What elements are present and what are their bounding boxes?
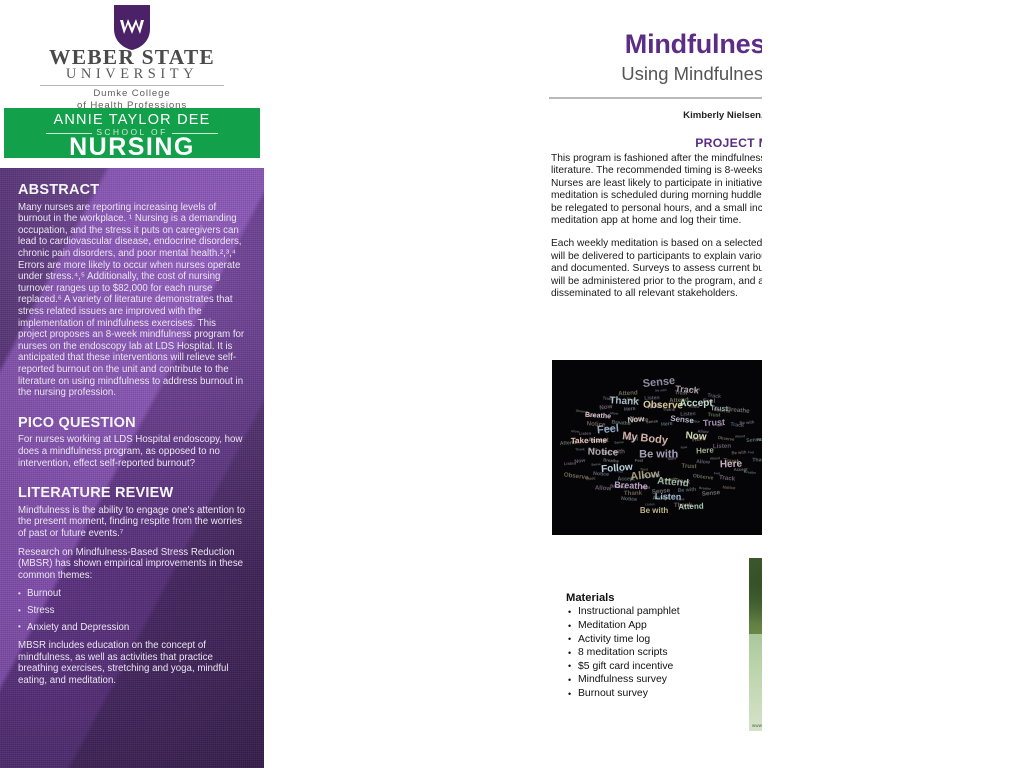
brain-word-speck: Sense bbox=[614, 441, 624, 445]
brain-word-speck: Attend bbox=[710, 457, 720, 461]
brain-word-speck: Be with bbox=[678, 488, 697, 494]
list-item: Activity time log bbox=[566, 634, 756, 646]
brain-word-speck: Sense bbox=[701, 490, 720, 498]
list-item: $5 gift card incentive bbox=[566, 661, 756, 673]
brain-word-speck: Notice bbox=[723, 486, 736, 491]
pico-body: For nurses working at LDS Hospital endos… bbox=[18, 434, 246, 469]
weber-state-shield-icon bbox=[112, 4, 152, 51]
list-item: Meditation App bbox=[566, 620, 756, 632]
list-item: Anxiety and Depression bbox=[18, 622, 246, 634]
brain-word-speck: Feel bbox=[703, 399, 715, 405]
left-column: WEBER STATE UNIVERSITY Dumke College of … bbox=[0, 0, 264, 768]
brain-word-speck: Accept bbox=[652, 496, 669, 501]
brain-word-speck: Thank bbox=[662, 408, 674, 412]
brain-word-speck: Accept bbox=[588, 438, 609, 444]
brain-word-speck: Feel bbox=[628, 437, 638, 442]
school-annie-taylor-dee: ANNIE TAYLOR DEE bbox=[4, 112, 260, 128]
poster-root: WEBER STATE UNIVERSITY Dumke College of … bbox=[0, 0, 1024, 768]
left-content-panel: ABSTRACT Many nurses are reporting incre… bbox=[0, 168, 264, 768]
school-nursing-word: NURSING bbox=[4, 133, 260, 162]
brain-word-speck: Feel bbox=[642, 485, 650, 489]
list-item: Mindfulness survey bbox=[566, 674, 756, 686]
brain-word-speck: Observe bbox=[692, 474, 713, 482]
brain-word-speck: Attend bbox=[669, 398, 689, 405]
university-word: UNIVERSITY bbox=[0, 67, 264, 81]
list-item: Stress bbox=[18, 605, 246, 617]
brain-word-speck: Listen bbox=[680, 412, 695, 418]
brain-word-cloud-words: SenseTrackThankObserveAcceptTrustFeelMy … bbox=[552, 360, 784, 535]
brain-word-speck: Track bbox=[719, 475, 736, 483]
brain-word-speck: Allow bbox=[570, 430, 579, 434]
brain-word: Here bbox=[696, 447, 714, 456]
brain-word-speck: Sense bbox=[652, 488, 671, 496]
brain-word-speck: Trust bbox=[724, 459, 739, 466]
brain-word-speck: Notice bbox=[621, 497, 637, 503]
brain-word-speck: Feel bbox=[635, 459, 643, 463]
brain-word-speck: Listen bbox=[564, 462, 576, 467]
brain-word-speck: Sense bbox=[646, 419, 659, 424]
brain-word-speck: Listen bbox=[579, 431, 591, 436]
brain-word-speck: Be with bbox=[740, 420, 755, 425]
list-item: Burnout survey bbox=[566, 688, 756, 700]
brain-word-speck: Breathe bbox=[610, 484, 626, 490]
literature-para-1: Mindfulness is the ability to engage one… bbox=[18, 505, 246, 540]
brain-word-speck: Trust bbox=[675, 392, 688, 398]
brain-word-speck: Allow bbox=[595, 486, 612, 493]
brain-word-speck: Here bbox=[588, 447, 598, 452]
brain-word-speck: Now bbox=[667, 456, 676, 461]
brain-word-speck: Feel bbox=[748, 452, 754, 455]
brain-word-speck: Now bbox=[680, 446, 687, 450]
materials-section: Materials Instructional pamphlet Meditat… bbox=[566, 592, 756, 702]
list-item: 8 meditation scripts bbox=[566, 647, 756, 659]
brain-word-speck: Allow bbox=[698, 430, 709, 435]
brain-word-speck: Allow bbox=[689, 404, 700, 409]
brain-word-speck: Trust bbox=[640, 468, 648, 471]
brain-word-speck: Accept bbox=[689, 388, 700, 391]
brain-word-speck: Attend bbox=[560, 441, 577, 447]
list-item: Instructional pamphlet bbox=[566, 606, 756, 618]
brain-word-speck: Thank bbox=[575, 449, 584, 452]
brain-word-speck: Be with bbox=[655, 389, 667, 393]
literature-review-heading: LITERATURE REVIEW bbox=[18, 485, 246, 502]
nursing-school-banner: ANNIE TAYLOR DEE SCHOOL OF NURSING bbox=[4, 108, 260, 158]
abstract-body: Many nurses are reporting increasing lev… bbox=[18, 202, 246, 399]
brain-word-speck: Observe bbox=[717, 436, 734, 442]
brain-word-speck: Listen bbox=[713, 444, 731, 451]
brain-word-speck: Thank bbox=[674, 503, 692, 510]
brain-word-speck: Trust bbox=[707, 414, 720, 420]
literature-themes-list: Burnout Stress Anxiety and Depression bbox=[18, 588, 246, 633]
pico-heading: PICO QUESTION bbox=[18, 415, 246, 432]
brain-word-speck: Attend bbox=[619, 391, 639, 398]
abstract-heading: ABSTRACT bbox=[18, 182, 246, 199]
brain-word-speck: Accept bbox=[617, 478, 634, 483]
college-line-1: Dumke College bbox=[93, 88, 170, 99]
brain-word-speck: Now bbox=[717, 424, 724, 428]
brain-word-speck: Trust bbox=[681, 464, 696, 471]
brain-word-speck: Allow bbox=[696, 460, 710, 466]
brain-word-speck: Here bbox=[624, 407, 636, 413]
materials-list: Instructional pamphlet Meditation App Ac… bbox=[566, 606, 756, 700]
brain-word-cloud-image: SenseTrackThankObserveAcceptTrustFeelMy … bbox=[552, 360, 784, 535]
brain-word-speck: Sense bbox=[591, 463, 601, 467]
materials-heading: Materials bbox=[566, 592, 756, 605]
brain-word-speck: Here bbox=[692, 436, 706, 444]
brain-word-speck: Notice bbox=[586, 421, 605, 429]
weber-state-logo: WEBER STATE UNIVERSITY Dumke College of … bbox=[0, 0, 264, 108]
brain-word-speck: Be with bbox=[641, 473, 660, 479]
literature-para-3: MBSR includes education on the concept o… bbox=[18, 640, 246, 686]
right-column: THEORETICAL FRAMEWORK The three parts to… bbox=[762, 0, 1024, 768]
middle-column: Mindfulness for Nurses: Using Mindfulnes… bbox=[264, 0, 762, 768]
brain-word-speck: Allow bbox=[610, 412, 619, 416]
brain-word-speck: Observe bbox=[576, 410, 589, 415]
literature-para-2: Research on Mindfulness-Based Stress Red… bbox=[18, 547, 246, 582]
brain-word-speck: Listen bbox=[644, 396, 659, 402]
logo-divider bbox=[40, 85, 224, 86]
brain-word-speck: Here bbox=[586, 477, 596, 482]
brain-word-speck: Track bbox=[707, 394, 721, 401]
brain-word-speck: Here bbox=[661, 422, 673, 428]
list-item: Burnout bbox=[18, 588, 246, 600]
brain-word-speck: Track bbox=[602, 396, 613, 401]
brain-word-speck: Be with bbox=[731, 450, 746, 455]
brain-word-speck: Attend bbox=[735, 435, 745, 439]
brain-word-speck: Observe bbox=[563, 473, 588, 482]
brain-word-speck: Thank bbox=[604, 427, 613, 430]
brain-word-speck: Breathe bbox=[744, 471, 756, 475]
brain-word: Be with bbox=[640, 507, 668, 515]
brain-word-speck: Be with bbox=[603, 449, 625, 457]
